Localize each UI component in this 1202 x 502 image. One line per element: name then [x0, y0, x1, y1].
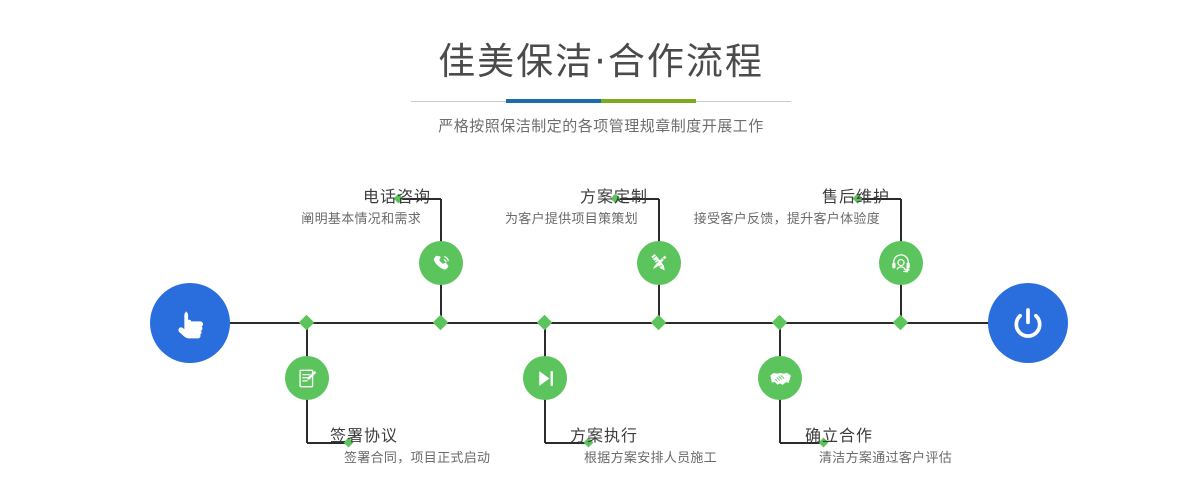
- header: 佳美保洁·合作流程 严格按照保洁制定的各项管理规章制度开展工作: [0, 0, 1202, 137]
- step-icon-node-3[interactable]: [637, 241, 681, 285]
- power-icon: [1006, 301, 1050, 345]
- flow-start-node[interactable]: [150, 283, 230, 363]
- axis-marker: [433, 315, 449, 331]
- step-label-2: 签署协议签署合同，项目正式启动: [330, 425, 490, 469]
- play-forward-icon: [533, 366, 558, 391]
- document-edit-icon: [295, 366, 320, 391]
- axis-marker: [537, 315, 553, 331]
- step-desc: 阐明基本情况和需求: [301, 210, 421, 230]
- phone-call-icon: [428, 250, 454, 276]
- axis-marker: [651, 315, 667, 331]
- step-icon-node-2[interactable]: [285, 356, 329, 400]
- headset-support-icon: [888, 250, 914, 276]
- divider-segment-blue: [506, 99, 601, 103]
- axis-marker: [299, 315, 315, 331]
- step-icon-node-4[interactable]: [523, 356, 567, 400]
- step-icon-node-6[interactable]: [879, 241, 923, 285]
- axis-marker: [772, 315, 788, 331]
- pointing-hand-icon: [168, 301, 212, 345]
- step-label-4: 方案执行根据方案安排人员施工: [570, 425, 717, 469]
- step-desc: 根据方案安排人员施工: [584, 449, 717, 469]
- step-desc: 签署合同，项目正式启动: [344, 449, 490, 469]
- step-title: 确立合作: [805, 425, 952, 447]
- step-icon-node-1[interactable]: [419, 241, 463, 285]
- step-label-3: 方案定制为客户提供项目策策划: [505, 186, 648, 230]
- step-desc: 为客户提供项目策策划: [505, 210, 638, 230]
- step-title: 方案定制: [505, 186, 648, 208]
- flow-end-node[interactable]: [988, 283, 1068, 363]
- handshake-icon: [767, 365, 794, 392]
- step-icon-node-5[interactable]: [758, 356, 802, 400]
- step-title: 售后维护: [694, 186, 890, 208]
- step-desc: 清洁方案通过客户评估: [819, 449, 952, 469]
- flow-diagram-canvas: 佳美保洁·合作流程 严格按照保洁制定的各项管理规章制度开展工作: [0, 0, 1202, 502]
- divider-segment-green: [601, 99, 696, 103]
- step-title: 方案执行: [570, 425, 717, 447]
- step-label-1: 电话咨询阐明基本情况和需求: [301, 186, 431, 230]
- page-subtitle: 严格按照保洁制定的各项管理规章制度开展工作: [0, 115, 1202, 137]
- step-title: 签署协议: [330, 425, 490, 447]
- pencil-ruler-icon: [646, 250, 672, 276]
- step-label-6: 售后维护接受客户反馈，提升客户体验度: [694, 186, 890, 230]
- title-divider: [411, 96, 791, 108]
- page-title: 佳美保洁·合作流程: [0, 40, 1202, 84]
- axis-marker: [893, 315, 909, 331]
- step-desc: 接受客户反馈，提升客户体验度: [694, 210, 880, 230]
- step-title: 电话咨询: [301, 186, 431, 208]
- step-label-5: 确立合作清洁方案通过客户评估: [805, 425, 952, 469]
